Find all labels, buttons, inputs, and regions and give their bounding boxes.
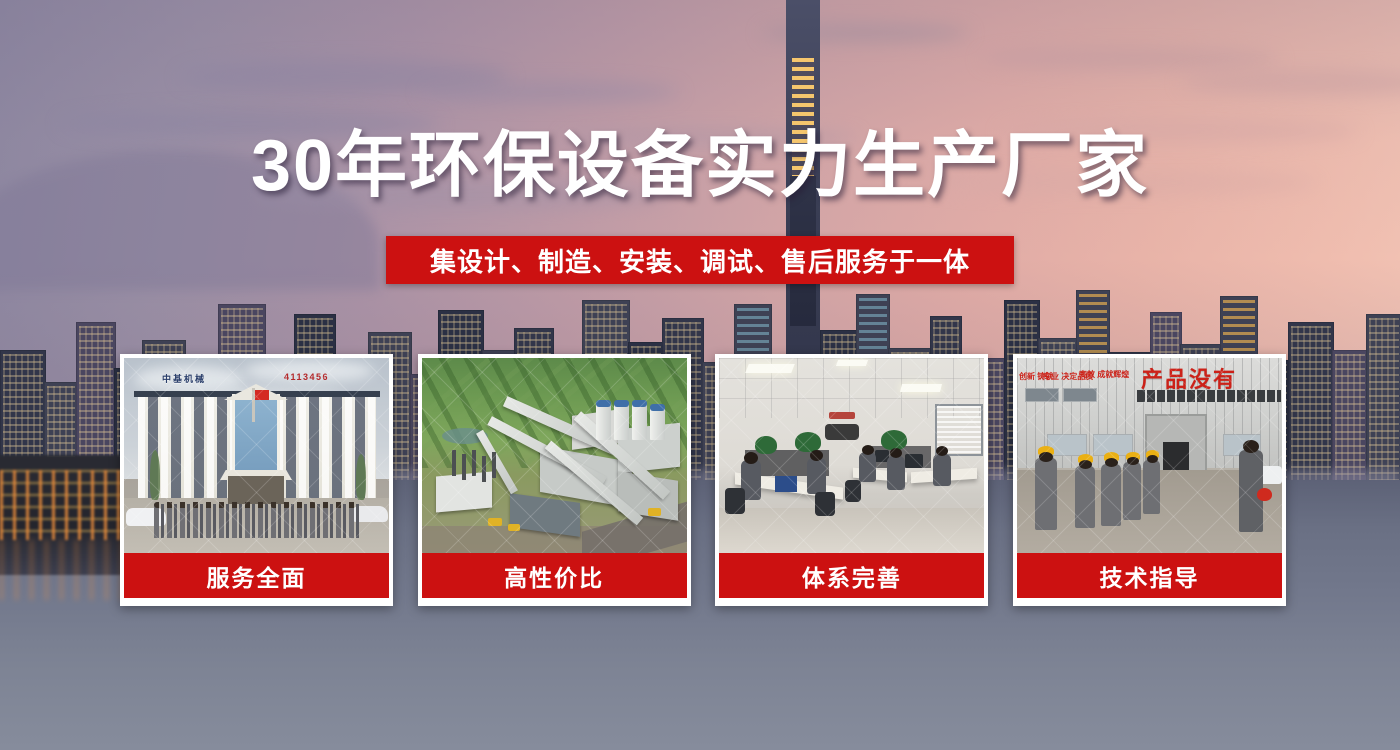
subtitle-text: 集设计、制造、安装、调试、售后服务于一体 <box>430 242 970 279</box>
feature-card[interactable]: 高性价比 <box>418 354 691 606</box>
feature-card[interactable]: 产品没有 创新 铸就 专业 决定品质 高效 成就辉煌 <box>1013 354 1286 606</box>
subtitle-banner: 集设计、制造、安装、调试、售后服务于一体 <box>386 236 1014 284</box>
card-caption: 体系完善 <box>719 553 984 598</box>
building-phone-number: 4113456 <box>284 372 329 382</box>
promo-banner: 30年环保设备实力生产厂家 集设计、制造、安装、调试、售后服务于一体 <box>0 0 1400 750</box>
building-sign-text: 中基机械 <box>162 372 206 385</box>
card-photo-office-interior <box>719 358 984 553</box>
card-caption: 技术指导 <box>1017 553 1282 598</box>
card-caption: 服务全面 <box>124 553 389 598</box>
card-photo-plant-aerial <box>422 358 687 553</box>
feature-card-row: 中基机械 4113456 服务全面 <box>120 354 1286 606</box>
feature-card[interactable]: 中基机械 4113456 服务全面 <box>120 354 393 606</box>
card-caption: 高性价比 <box>422 553 687 598</box>
card-photo-office-building: 中基机械 4113456 <box>124 358 389 553</box>
page-title: 30年环保设备实力生产厂家 <box>0 130 1400 202</box>
factory-slogan: 高效 成就辉煌 <box>1079 370 1129 380</box>
feature-card[interactable]: 体系完善 <box>715 354 988 606</box>
wall-logo <box>825 412 859 440</box>
card-photo-worker-briefing: 产品没有 创新 铸就 专业 决定品质 高效 成就辉煌 <box>1017 358 1282 553</box>
